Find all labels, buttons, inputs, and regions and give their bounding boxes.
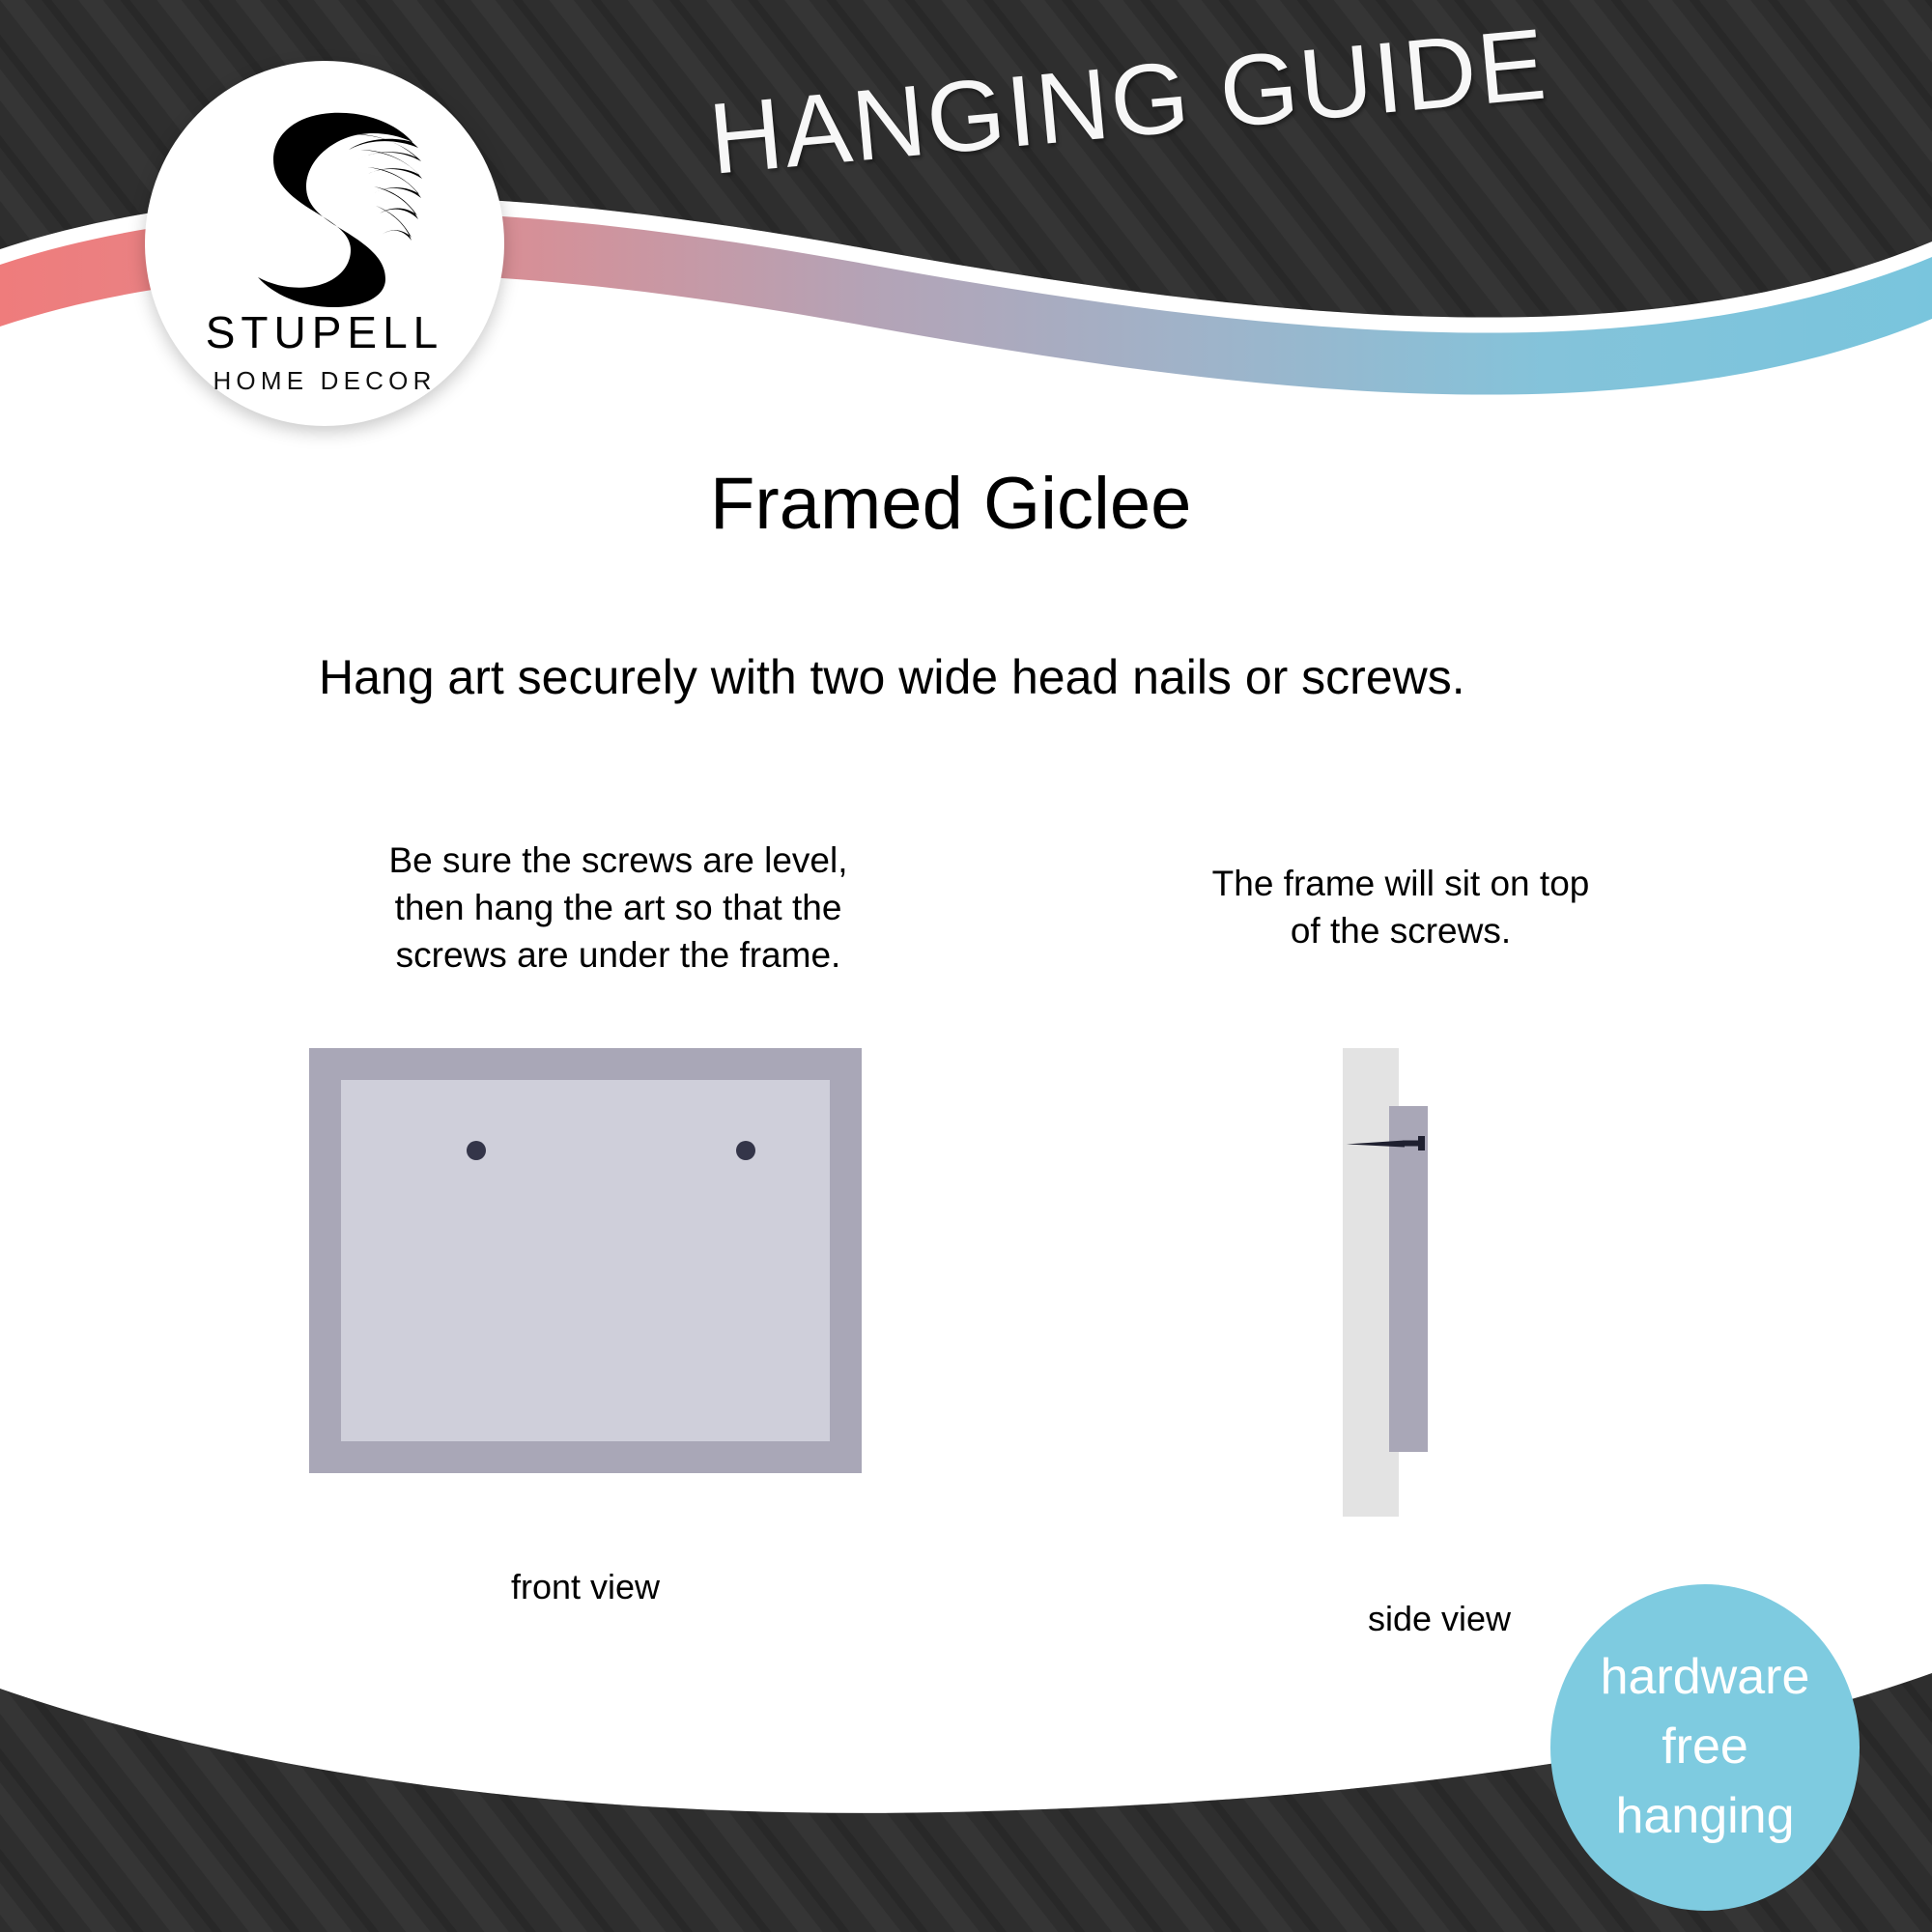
badge-line-3: hanging [1615,1782,1794,1852]
screw-dot-left-icon [467,1141,486,1160]
badge-line-1: hardware [1601,1643,1810,1713]
side-view-diagram [1343,1048,1536,1517]
side-view-label: side view [1256,1599,1623,1639]
side-view-caption-line-2: of the screws. [1164,907,1637,954]
front-view-label: front view [309,1567,862,1607]
brand-logo-badge: STUPELL HOME DECOR [145,61,504,426]
nail-icon [1347,1136,1435,1151]
brand-name: STUPELL [206,310,444,355]
page-title: HANGING GUIDE [705,7,1552,197]
side-view-caption: The frame will sit on top of the screws. [1164,860,1637,954]
screw-dot-right-icon [736,1141,755,1160]
badge-line-2: free [1662,1713,1748,1782]
intro-instruction: Hang art securely with two wide head nai… [319,649,1465,705]
front-view-caption-line-1: Be sure the screws are level, [328,837,908,884]
front-view-caption-line-2: then hang the art so that the [328,884,908,931]
front-view-frame-interior [341,1080,830,1441]
product-title: Framed Giclee [710,462,1191,546]
stupell-swoosh-logo-icon [223,103,426,308]
hanging-guide-page: STUPELL HOME DECOR HANGING GUIDE Framed … [0,0,1932,1932]
front-view-diagram [309,1048,862,1473]
frame-profile-strip [1389,1106,1428,1452]
hardware-free-hanging-badge: hardware free hanging [1550,1584,1860,1911]
front-view-caption-line-3: screws are under the frame. [328,931,908,979]
front-view-caption: Be sure the screws are level, then hang … [328,837,908,980]
brand-subtitle: HOME DECOR [213,368,436,393]
side-view-caption-line-1: The frame will sit on top [1164,860,1637,907]
